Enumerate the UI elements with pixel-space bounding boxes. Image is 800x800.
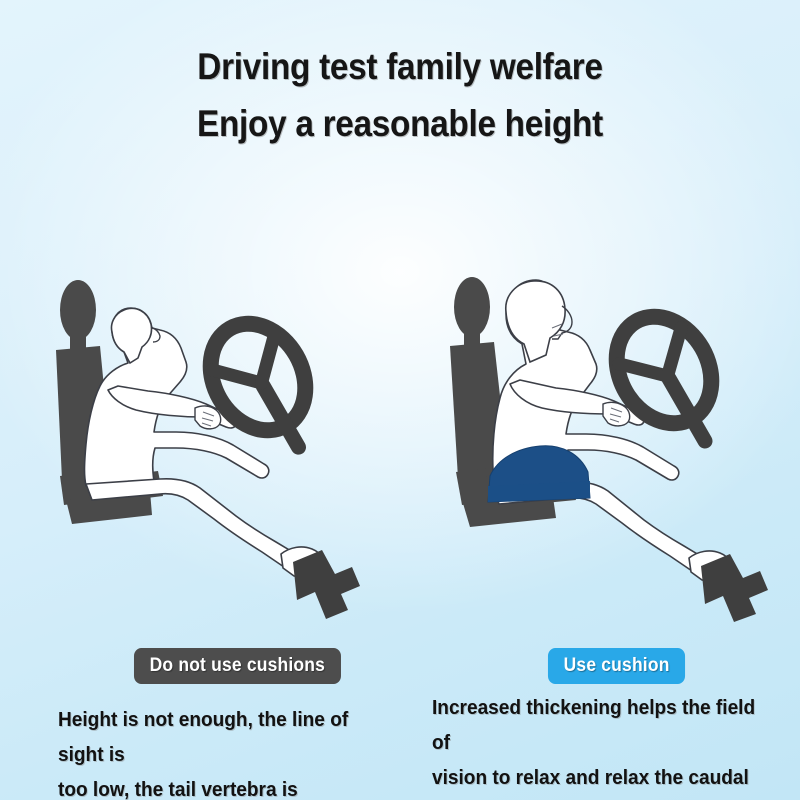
caption-text-right-line-3: vertebrae: [432, 795, 759, 800]
badge-use-cushion[interactable]: Use cushion: [548, 648, 685, 684]
headrest-icon: [60, 280, 96, 352]
poster-root: Driving test family welfare Enjoy a reas…: [0, 0, 800, 800]
scene-with-cushion: [390, 262, 790, 622]
caption-text-right-line-2: vision to relax and relax the caudal: [432, 760, 759, 795]
badge-do-not-use-cushions[interactable]: Do not use cushions: [134, 648, 341, 684]
title-line-2: Enjoy a reasonable height: [40, 95, 760, 152]
caption-text-left-line-1: Height is not enough, the line of sight …: [58, 702, 387, 772]
illustration-stage: [0, 262, 800, 622]
badge-row-right: Use cushion: [432, 648, 784, 684]
scene-without-cushion: [0, 262, 400, 622]
caption-with-cushion: Use cushion Increased thickening helps t…: [432, 648, 784, 800]
headrest-icon: [454, 277, 490, 348]
title-line-1: Driving test family welfare: [40, 38, 760, 95]
pedal-icon: [701, 554, 768, 622]
pedal-icon: [293, 550, 360, 619]
heading-block: Driving test family welfare Enjoy a reas…: [0, 38, 800, 152]
caption-text-left-line-2: too low, the tail vertebra is unsupporte…: [58, 772, 387, 800]
badge-row-left: Do not use cushions: [52, 648, 412, 684]
caption-text-right-line-1: Increased thickening helps the field of: [432, 690, 759, 760]
caption-without-cushion: Do not use cushions Height is not enough…: [52, 648, 412, 800]
